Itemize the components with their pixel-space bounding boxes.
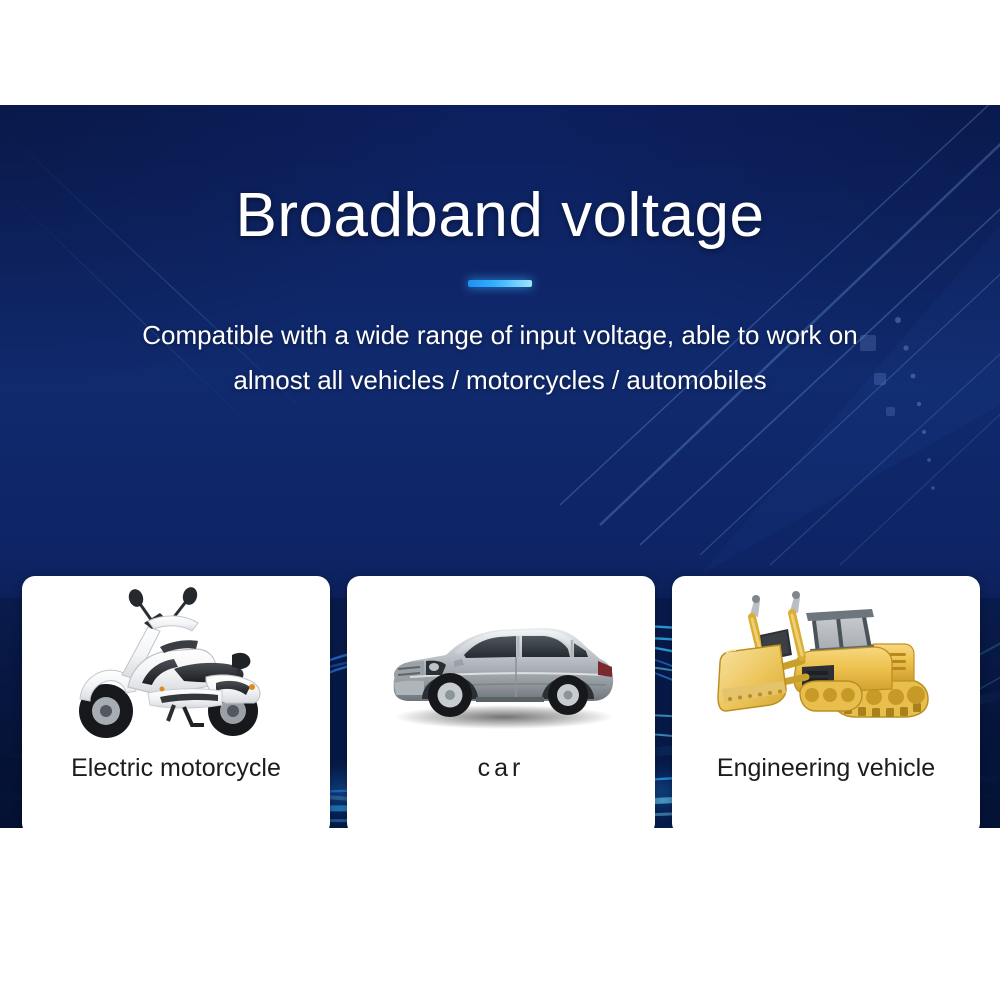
silver-suv-icon — [376, 599, 626, 739]
subtitle-line-2: almost all vehicles / motorcycles / auto… — [85, 358, 915, 403]
category-card-engineering-vehicle[interactable]: Engineering vehicle — [672, 576, 980, 828]
category-card-electric-motorcycle[interactable]: Electric motorcycle — [22, 576, 330, 828]
page-subtitle: Compatible with a wide range of input vo… — [85, 313, 915, 402]
card-label: Engineering vehicle — [672, 756, 980, 781]
subtitle-line-1: Compatible with a wide range of input vo… — [85, 313, 915, 358]
electric-scooter-icon — [56, 583, 296, 755]
card-image-area — [672, 576, 980, 756]
page-root: Broadband voltage Compatible with a wide… — [0, 0, 1000, 1000]
card-label: Electric motorcycle — [22, 756, 330, 781]
card-label: car — [347, 756, 655, 781]
bulldozer-icon — [706, 589, 946, 749]
promo-banner: Broadband voltage Compatible with a wide… — [0, 105, 1000, 828]
accent-divider — [468, 280, 532, 287]
card-image-area — [22, 576, 330, 756]
category-card-list: Electric motorcycle — [22, 576, 980, 828]
card-image-area — [347, 576, 655, 756]
page-title: Broadband voltage — [0, 105, 1000, 248]
heading-block: Broadband voltage Compatible with a wide… — [0, 105, 1000, 403]
category-card-car[interactable]: car — [347, 576, 655, 828]
